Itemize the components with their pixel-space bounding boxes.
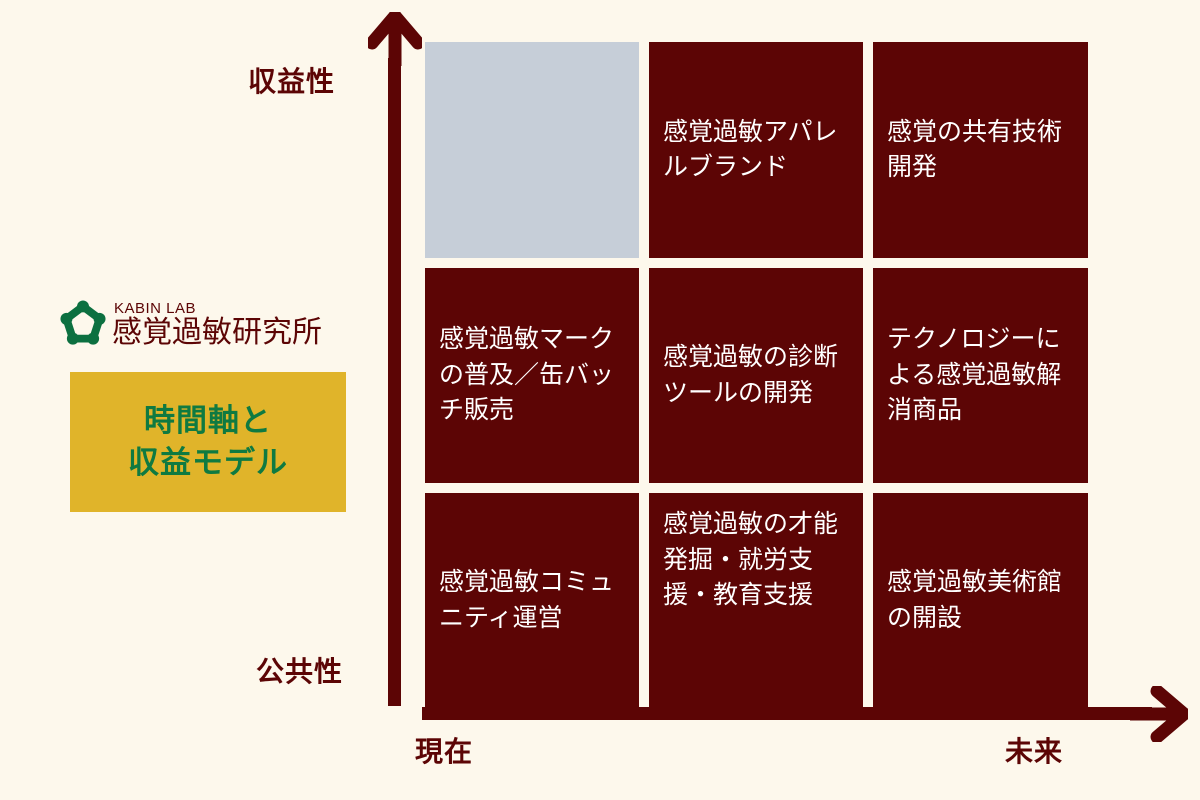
brand-lockup: KABIN LAB 感覚過敏研究所 xyxy=(60,288,360,348)
y-axis-bottom-label: 公共性 xyxy=(256,650,343,690)
matrix-cell-r1c2[interactable]: テクノロジーによる感覚過敏解消商品 xyxy=(873,268,1088,483)
title-card-line-2: 収益モデル xyxy=(128,442,288,484)
matrix-cell-text: 感覚過敏美術館の開設 xyxy=(887,565,1076,636)
x-axis-line xyxy=(422,707,1152,720)
matrix-cell-text: 感覚過敏の診断ツールの開発 xyxy=(663,340,851,411)
matrix-cell-text: 感覚の共有技術開発 xyxy=(887,115,1076,186)
matrix-cell-text: テクノロジーによる感覚過敏解消商品 xyxy=(887,322,1076,429)
matrix-cell-r1c0[interactable]: 感覚過敏マークの普及／缶バッチ販売 xyxy=(425,268,639,483)
matrix-cell-r0c0 xyxy=(425,42,639,258)
matrix-cell-r2c2[interactable]: 感覚過敏美術館の開設 xyxy=(873,493,1088,708)
brand-english-name: KABIN LAB xyxy=(114,301,322,316)
matrix-cell-r2c1[interactable]: 感覚過敏の才能発掘・就労支援・教育支援 xyxy=(649,493,863,708)
matrix-cell-text: 感覚過敏の才能発掘・就労支援・教育支援 xyxy=(663,507,851,614)
title-card: 時間軸と 収益モデル xyxy=(70,372,346,512)
matrix-cell-r0c1[interactable]: 感覚過敏アパレルブランド xyxy=(649,42,863,258)
infographic-canvas: 収益性 公共性 現在 未来 KABIN LAB 感覚過敏研究所 xyxy=(0,0,1200,800)
arrow-right-icon xyxy=(1130,686,1188,742)
matrix-cell-r2c0[interactable]: 感覚過敏コミュニティ運営 xyxy=(425,493,639,708)
matrix-cell-text: 感覚過敏アパレルブランド xyxy=(663,115,851,186)
matrix-cell-text: 感覚過敏コミュニティ運営 xyxy=(439,565,627,636)
matrix-grid: 感覚過敏アパレルブランド 感覚の共有技術開発 感覚過敏マークの普及／缶バッチ販売… xyxy=(425,42,1088,708)
matrix-cell-r0c2[interactable]: 感覚の共有技術開発 xyxy=(873,42,1088,258)
y-axis-line xyxy=(388,58,401,706)
x-axis-right-label: 未来 xyxy=(1005,730,1063,770)
x-axis-left-label: 現在 xyxy=(415,730,473,770)
matrix-cell-r1c1[interactable]: 感覚過敏の診断ツールの開発 xyxy=(649,268,863,483)
matrix-cell-text: 感覚過敏マークの普及／缶バッチ販売 xyxy=(439,322,627,429)
arrow-up-icon xyxy=(368,12,422,68)
y-axis-top-label: 収益性 xyxy=(248,60,335,100)
brand-japanese-name: 感覚過敏研究所 xyxy=(112,318,322,348)
title-card-line-1: 時間軸と xyxy=(144,400,272,442)
kabin-lab-star-logo-icon xyxy=(60,300,106,346)
